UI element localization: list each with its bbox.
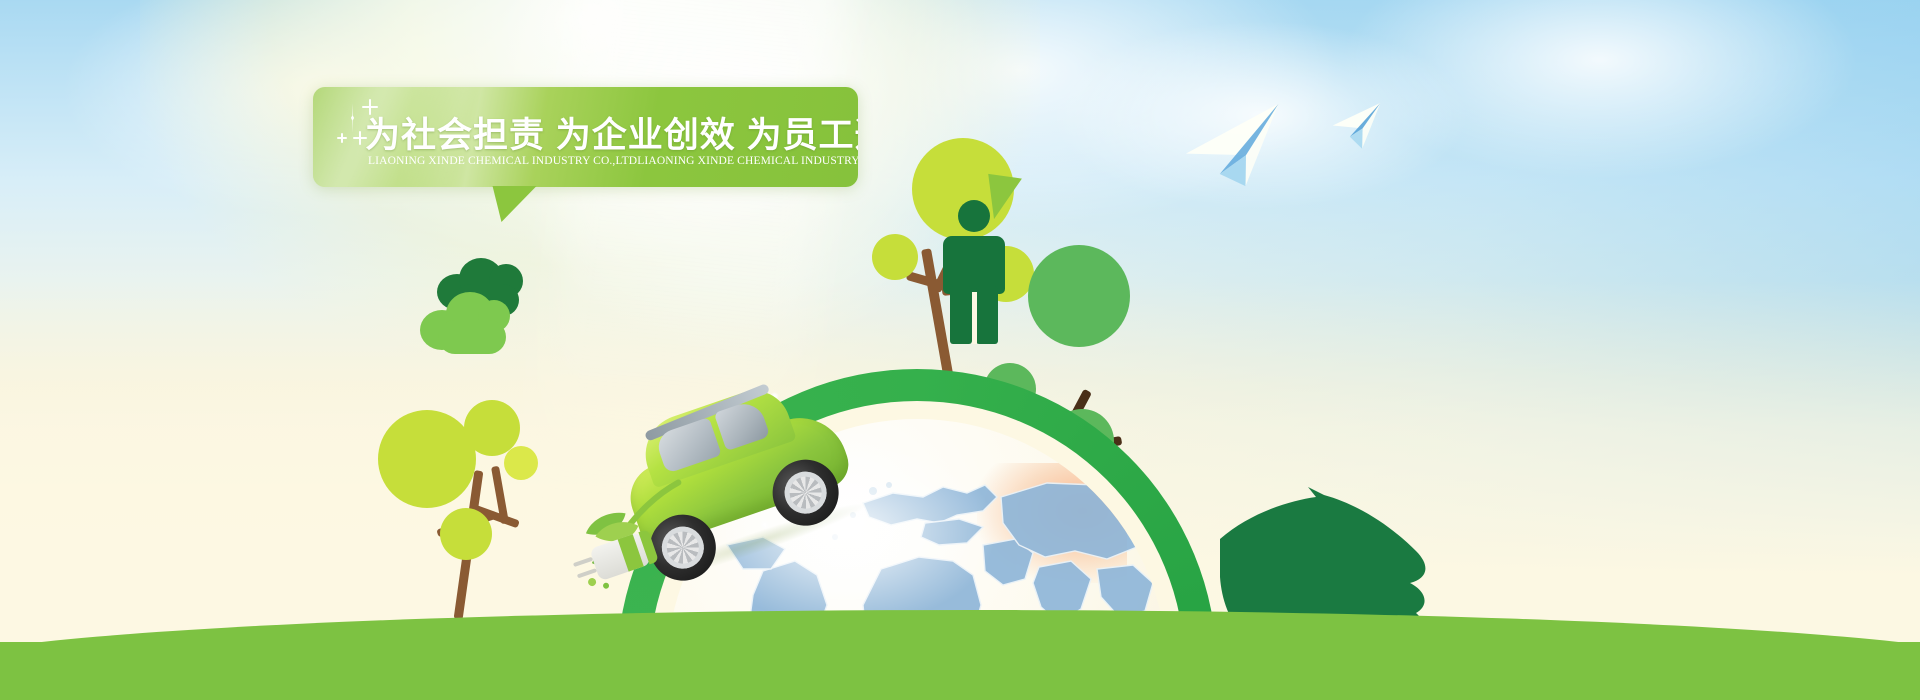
slogan-banner: 为社会担责 为企业创效 为员工造福 LIAONING XINDE CHEMICA… [313, 87, 858, 187]
green-ground-strip [0, 642, 1920, 700]
standing-person-silhouette [934, 200, 1014, 340]
paper-plane-small-icon [1329, 99, 1401, 162]
person-head [958, 200, 990, 232]
slogan-subline: LIAONING XINDE CHEMICAL INDUSTRY CO.,LTD… [368, 155, 858, 167]
person-leg-right [976, 286, 998, 344]
person-leg-gap [972, 292, 977, 344]
tree-lime-left [378, 400, 588, 630]
slogan-headline: 为社会担责 为企业创效 为员工造福 [365, 107, 845, 158]
slogan-banner-tail [487, 186, 536, 222]
eco-banner: 为社会担责 为企业创效 为员工造福 LIAONING XINDE CHEMICA… [0, 0, 1920, 700]
person-leg-left [950, 286, 972, 344]
